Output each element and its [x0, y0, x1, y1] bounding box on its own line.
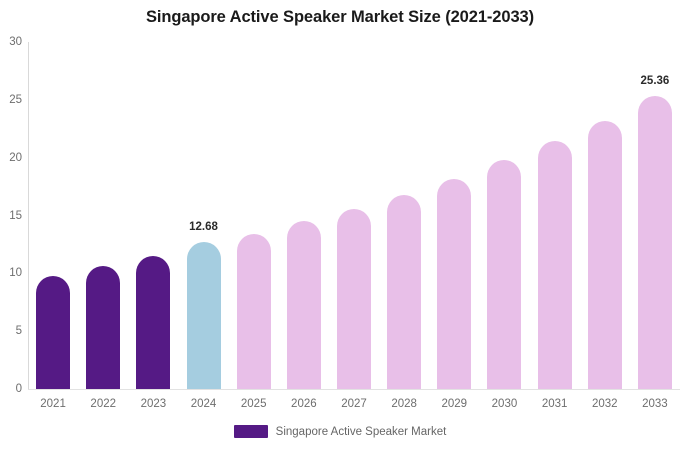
- bar-group-2023: 2023: [136, 42, 170, 389]
- bar-group-2024: 12.682024: [187, 42, 221, 389]
- bar-group-2028: 2028: [387, 42, 421, 389]
- y-axis-tick-15: 15: [9, 210, 22, 222]
- x-axis-tick-2033: 2033: [642, 398, 668, 410]
- bar-2021[interactable]: [36, 276, 70, 389]
- bar-2031[interactable]: [538, 141, 572, 389]
- bar-group-2025: 2025: [237, 42, 271, 389]
- bar-group-2022: 2022: [86, 42, 120, 389]
- bar-group-2027: 2027: [337, 42, 371, 389]
- bar-2025[interactable]: [237, 234, 271, 389]
- x-axis-tick-2032: 2032: [592, 398, 618, 410]
- x-axis-tick-2024: 2024: [191, 398, 217, 410]
- chart-legend: Singapore Active Speaker Market: [0, 425, 680, 438]
- bar-2030[interactable]: [487, 160, 521, 389]
- x-axis-tick-2031: 2031: [542, 398, 568, 410]
- x-axis-tick-2021: 2021: [40, 398, 66, 410]
- bar-series: 20212022202312.6820242025202620272028202…: [28, 42, 680, 389]
- bar-2028[interactable]: [387, 195, 421, 389]
- y-axis-tick-25: 25: [9, 94, 22, 106]
- bar-group-2032: 2032: [588, 42, 622, 389]
- y-axis-tick-20: 20: [9, 152, 22, 164]
- bar-2022[interactable]: [86, 266, 120, 389]
- bar-group-2026: 2026: [287, 42, 321, 389]
- bar-2024[interactable]: [187, 242, 221, 389]
- y-axis-tick-0: 0: [16, 383, 22, 395]
- bar-2027[interactable]: [337, 209, 371, 389]
- chart-title: Singapore Active Speaker Market Size (20…: [0, 8, 680, 27]
- x-axis-tick-2028: 2028: [391, 398, 417, 410]
- bar-2033[interactable]: [638, 96, 672, 389]
- x-axis-tick-2022: 2022: [90, 398, 116, 410]
- x-axis-tick-2023: 2023: [141, 398, 167, 410]
- x-axis-tick-2030: 2030: [492, 398, 518, 410]
- y-axis-tick-10: 10: [9, 267, 22, 279]
- bar-2032[interactable]: [588, 121, 622, 389]
- bar-group-2033: 25.362033: [638, 42, 672, 389]
- x-axis-tick-2029: 2029: [442, 398, 468, 410]
- bar-2029[interactable]: [437, 179, 471, 390]
- bar-value-label-2033: 25.36: [641, 75, 670, 87]
- bar-2023[interactable]: [136, 256, 170, 389]
- x-axis-tick-2025: 2025: [241, 398, 267, 410]
- legend-item[interactable]: Singapore Active Speaker Market: [234, 425, 447, 438]
- bar-group-2031: 2031: [538, 42, 572, 389]
- bar-group-2029: 2029: [437, 42, 471, 389]
- bar-group-2021: 2021: [36, 42, 70, 389]
- y-axis-tick-5: 5: [16, 325, 22, 337]
- bar-2026[interactable]: [287, 221, 321, 389]
- plot-area: 051015202530 20212022202312.682024202520…: [28, 42, 680, 389]
- x-axis-line: [28, 389, 680, 390]
- x-axis-tick-2027: 2027: [341, 398, 367, 410]
- legend-label: Singapore Active Speaker Market: [276, 426, 447, 438]
- bar-group-2030: 2030: [487, 42, 521, 389]
- x-axis-tick-2026: 2026: [291, 398, 317, 410]
- bar-value-label-2024: 12.68: [189, 221, 218, 233]
- y-axis-tick-30: 30: [9, 36, 22, 48]
- legend-swatch-icon: [234, 425, 268, 438]
- chart-container: Singapore Active Speaker Market Size (20…: [0, 0, 680, 450]
